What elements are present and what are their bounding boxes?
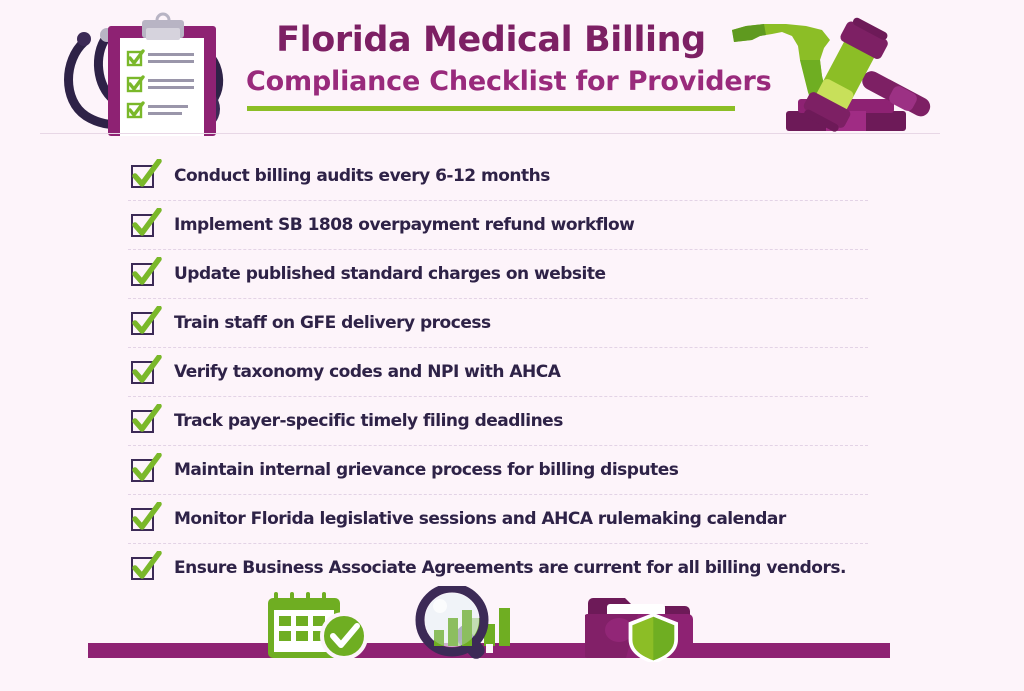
checklist-item[interactable]: Conduct billing audits every 6-12 months xyxy=(128,152,868,201)
checkbox-checked-icon[interactable] xyxy=(128,306,162,340)
checklist-item[interactable]: Update published standard charges on web… xyxy=(128,250,868,299)
magnifier-bar-chart-icon xyxy=(402,586,532,664)
clipboard-stethoscope-illustration xyxy=(46,8,246,136)
checklist-item-label: Update published standard charges on web… xyxy=(174,264,606,284)
checkbox-checked-icon[interactable] xyxy=(128,208,162,242)
checkbox-checked-icon[interactable] xyxy=(128,257,162,291)
calendar-check-icon xyxy=(268,586,372,662)
checklist-item[interactable]: Maintain internal grievance process for … xyxy=(128,446,868,495)
florida-map-gavel-illustration xyxy=(726,6,941,136)
checkbox-checked-icon[interactable] xyxy=(128,159,162,193)
checkbox-checked-icon[interactable] xyxy=(128,551,162,585)
checklist-item-label: Ensure Business Associate Agreements are… xyxy=(174,558,846,578)
checklist-item-label: Monitor Florida legislative sessions and… xyxy=(174,509,786,529)
checklist-item-label: Train staff on GFE delivery process xyxy=(174,313,491,333)
folder-shield-icon xyxy=(585,590,697,662)
title-subtitle: Compliance Checklist for Providers xyxy=(246,64,736,100)
footer-icon-group xyxy=(0,586,1024,666)
checklist-item-label: Conduct billing audits every 6-12 months xyxy=(174,166,550,186)
checkbox-checked-icon[interactable] xyxy=(128,502,162,536)
checklist-item-label: Track payer-specific timely filing deadl… xyxy=(174,411,563,431)
checklist-item[interactable]: Ensure Business Associate Agreements are… xyxy=(128,544,868,592)
checklist-item[interactable]: Track payer-specific timely filing deadl… xyxy=(128,397,868,446)
checklist-item[interactable]: Implement SB 1808 overpayment refund wor… xyxy=(128,201,868,250)
checklist-item-label: Implement SB 1808 overpayment refund wor… xyxy=(174,215,634,235)
checkbox-checked-icon[interactable] xyxy=(128,355,162,389)
checklist-item[interactable]: Train staff on GFE delivery process xyxy=(128,299,868,348)
checklist-item[interactable]: Monitor Florida legislative sessions and… xyxy=(128,495,868,544)
checklist-item-label: Verify taxonomy codes and NPI with AHCA xyxy=(174,362,560,382)
header-divider xyxy=(40,133,940,134)
checkbox-checked-icon[interactable] xyxy=(128,453,162,487)
compliance-checklist: Conduct billing audits every 6-12 months… xyxy=(128,152,868,592)
title-underline xyxy=(247,106,735,111)
header: Florida Medical Billing Compliance Check… xyxy=(0,0,1024,140)
checklist-item[interactable]: Verify taxonomy codes and NPI with AHCA xyxy=(128,348,868,397)
page-title: Florida Medical Billing Compliance Check… xyxy=(246,18,736,111)
checklist-item-label: Maintain internal grievance process for … xyxy=(174,460,678,480)
title-main: Florida Medical Billing xyxy=(246,18,736,62)
checkbox-checked-icon[interactable] xyxy=(128,404,162,438)
